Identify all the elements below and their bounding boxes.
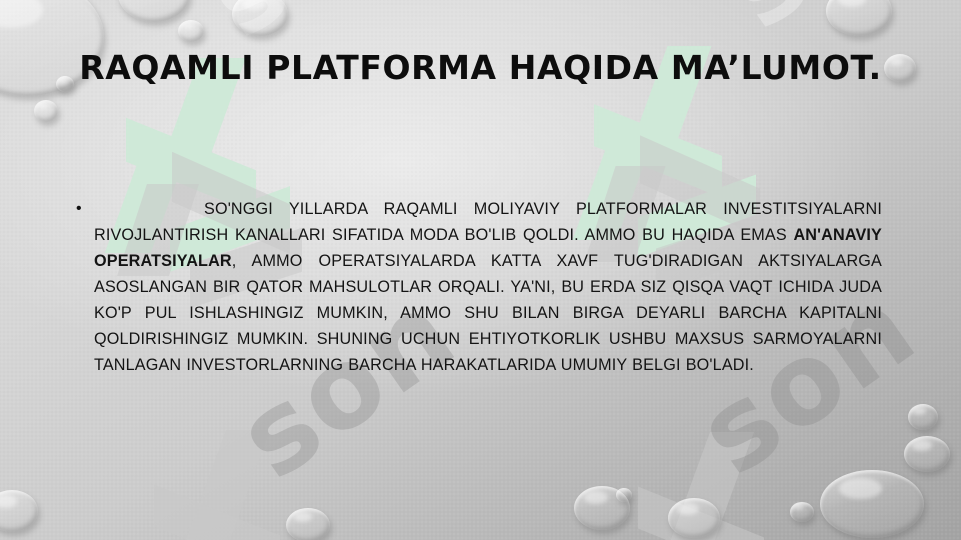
bullet-list-item: • SO'NGGI YILLARDA RAQAMLI MOLIYAVIY PLA… bbox=[70, 196, 882, 378]
droplet-decoration bbox=[908, 404, 938, 430]
paragraph-segment-two: , AMMO OPERATSIYALARDA KATTA XAVF TUG'DI… bbox=[94, 252, 882, 374]
brand-logo-watermark-bottom-right bbox=[632, 432, 782, 540]
droplet-decoration bbox=[118, 0, 190, 22]
droplet-decoration bbox=[178, 20, 204, 42]
droplet-decoration bbox=[286, 508, 330, 540]
droplet-decoration bbox=[34, 100, 58, 122]
droplet-decoration bbox=[616, 488, 632, 502]
droplet-decoration bbox=[668, 498, 720, 538]
slide-body: • SO'NGGI YILLARDA RAQAMLI MOLIYAVIY PLA… bbox=[70, 196, 882, 378]
droplet-decoration bbox=[790, 502, 814, 522]
droplet-decoration bbox=[574, 486, 630, 530]
droplet-decoration bbox=[904, 436, 950, 472]
presentation-slide: son son son son RAQAMLI PLATFORMA HAQIDA… bbox=[0, 0, 961, 540]
bullet-paragraph: SO'NGGI YILLARDA RAQAMLI MOLIYAVIY PLATF… bbox=[94, 196, 882, 378]
droplet-decoration bbox=[820, 470, 924, 538]
droplet-decoration bbox=[0, 490, 38, 532]
bullet-point-icon: • bbox=[70, 196, 94, 222]
brand-logo-watermark-bottom-left bbox=[148, 430, 298, 540]
watermark-text-top-right: son bbox=[702, 0, 961, 54]
slide-title: RAQAMLI PLATFORMA HAQIDA MA’LUMOT. bbox=[70, 48, 891, 88]
droplet-decoration bbox=[232, 0, 288, 36]
paragraph-segment-one: SO'NGGI YILLARDA RAQAMLI MOLIYAVIY PLATF… bbox=[94, 200, 882, 244]
droplet-decoration bbox=[826, 0, 892, 36]
